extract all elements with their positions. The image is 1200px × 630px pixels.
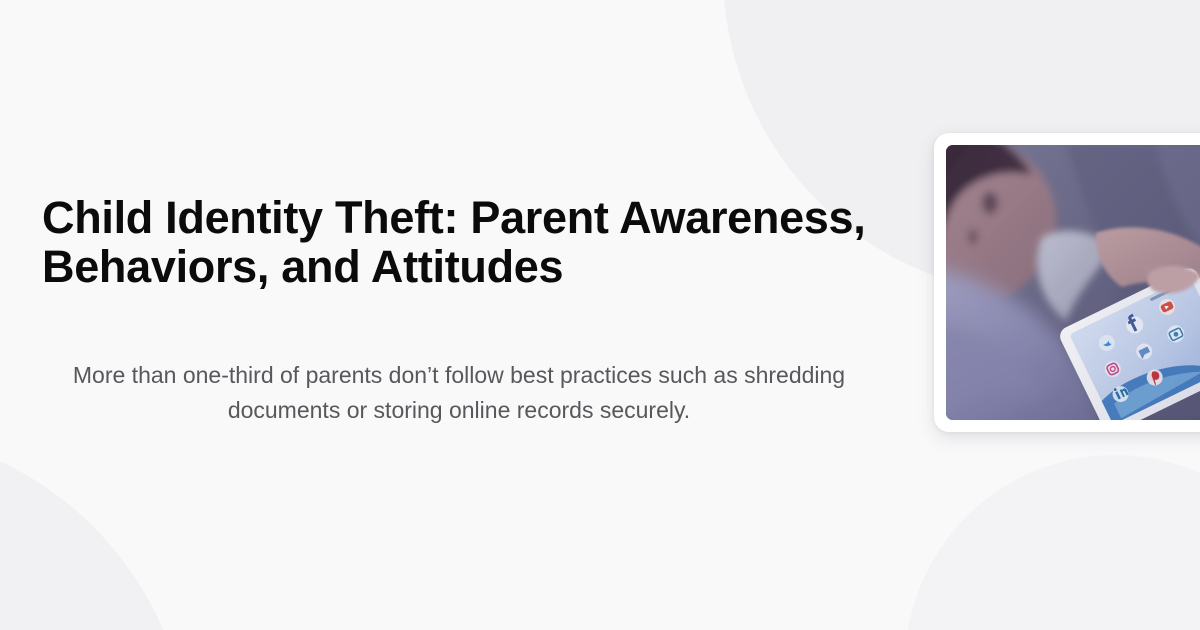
page-subtitle: More than one-third of parents don’t fol… [42,358,876,428]
og-preview-card: Child Identity Theft: Parent Awareness, … [0,0,1200,630]
text-content: Child Identity Theft: Parent Awareness, … [0,0,920,630]
photo-illustration [946,145,1200,420]
article-image-card [934,133,1200,432]
article-photo [946,145,1200,420]
decorative-circle-right [905,455,1200,630]
page-title: Child Identity Theft: Parent Awareness, … [42,193,902,291]
